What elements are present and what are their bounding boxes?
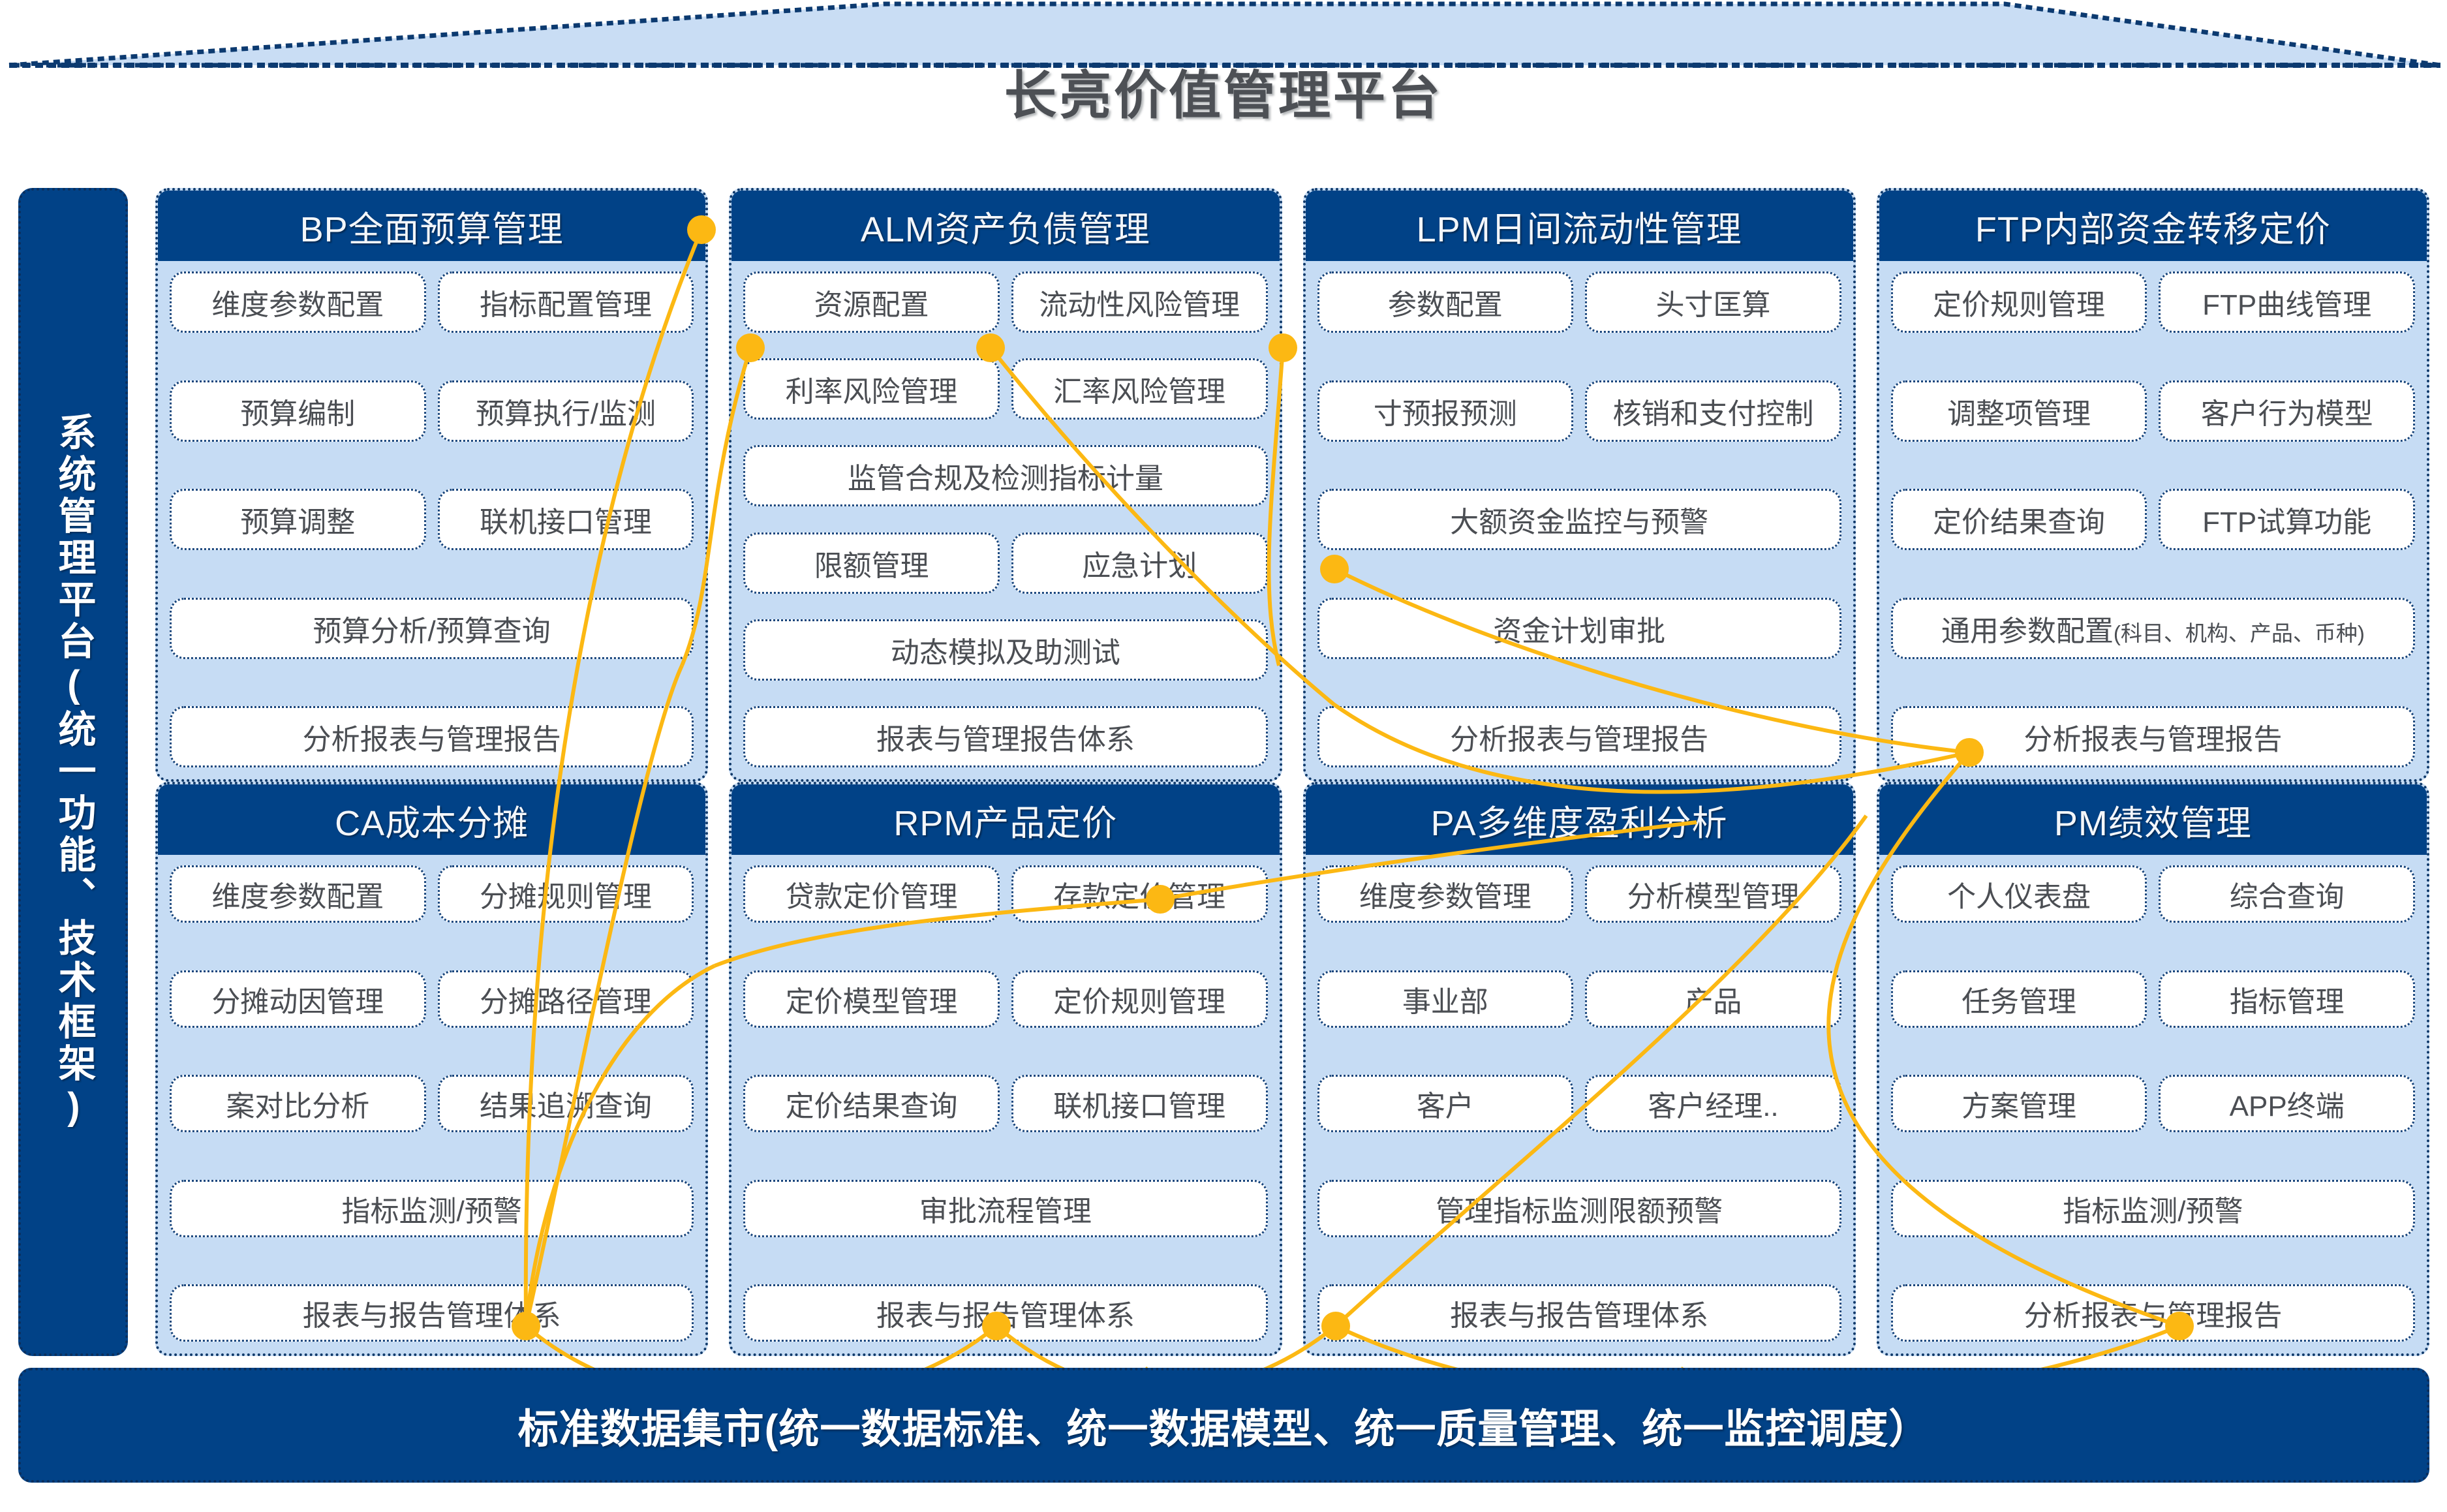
feature-pill-label: 定价结果查询 — [786, 1083, 958, 1124]
feature-pill[interactable]: 管理指标监测限额预警 — [1317, 1180, 1841, 1237]
feature-pill-label: APP终端 — [2230, 1083, 2345, 1124]
card-row: 事业部产品 — [1317, 970, 1841, 1028]
card-row: 定价结果查询联机接口管理 — [743, 1075, 1267, 1132]
feature-pill-label: 客户行为模型 — [2201, 390, 2373, 432]
feature-pill-label: 报表与管理报告体系 — [876, 716, 1135, 758]
card-row: 任务管理指标管理 — [1891, 970, 2415, 1028]
feature-pill-label: 分析模型管理 — [1627, 873, 1799, 915]
card-body-ca: 维度参数配置分摊规则管理分摊动因管理分摊路径管理案对比分析结果追溯查询指标监测/… — [158, 855, 705, 1353]
card-body-rpm: 贷款定价管理存款定价管理定价模型管理定价规则管理定价结果查询联机接口管理审批流程… — [731, 855, 1279, 1353]
card-row: 维度参数配置指标配置管理 — [170, 271, 694, 333]
feature-pill[interactable]: 指标管理 — [2159, 970, 2415, 1028]
card-body-ftp: 定价规则管理FTP曲线管理调整项管理客户行为模型定价结果查询FTP试算功能通用参… — [1879, 261, 2427, 779]
feature-pill-label: 贷款定价管理 — [786, 873, 958, 915]
feature-pill[interactable]: 报表与报告管理体系 — [1317, 1284, 1841, 1342]
card-row: 资源配置流动性风险管理 — [743, 271, 1267, 333]
card-row: 监管合规及检测指标计量 — [743, 445, 1267, 506]
feature-pill[interactable]: 汇率风险管理 — [1011, 358, 1268, 420]
card-body-pa: 维度参数管理分析模型管理事业部产品客户客户经理..管理指标监测限额预警报表与报告… — [1306, 855, 1853, 1353]
feature-pill[interactable]: 报表与报告管理体系 — [743, 1284, 1267, 1342]
feature-pill[interactable]: 资源配置 — [743, 271, 1000, 333]
feature-pill-label: 参数配置 — [1388, 281, 1503, 323]
card-row: 分摊动因管理分摊路径管理 — [170, 970, 694, 1028]
card-row: 定价规则管理FTP曲线管理 — [1891, 271, 2415, 333]
feature-pill-label: 大额资金监控与预警 — [1450, 499, 1708, 540]
card-row: 分析报表与管理报告 — [1891, 1284, 2415, 1342]
feature-pill[interactable]: 核销和支付控制 — [1585, 380, 1841, 442]
card-row: 报表与报告管理体系 — [1317, 1284, 1841, 1342]
card-row: 定价模型管理定价规则管理 — [743, 970, 1267, 1028]
feature-pill-label: 联机接口管理 — [1053, 1083, 1225, 1124]
feature-pill[interactable]: 分析报表与管理报告 — [1891, 706, 2415, 767]
feature-pill[interactable]: 头寸匡算 — [1585, 271, 1841, 333]
card-row: 报表与管理报告体系 — [743, 706, 1267, 767]
feature-pill[interactable]: 动态模拟及助测试 — [743, 619, 1267, 681]
feature-pill[interactable]: 预算分析/预算查询 — [170, 598, 694, 659]
roof-banner: 长亮价值管理平台 — [0, 0, 2447, 163]
feature-pill[interactable]: 指标监测/预警 — [1891, 1180, 2415, 1237]
card-title-rpm: RPM产品定价 — [893, 794, 1117, 846]
feature-pill-label: 定价规则管理 — [1933, 281, 2105, 323]
feature-pill[interactable]: FTP试算功能 — [2159, 489, 2415, 550]
feature-pill[interactable]: 存款定价管理 — [1011, 865, 1268, 923]
feature-pill[interactable]: 分析报表与管理报告 — [1891, 1284, 2415, 1342]
feature-pill-label: 分摊动因管理 — [211, 978, 384, 1020]
feature-pill-label: 流动性风险管理 — [1039, 281, 1240, 323]
feature-pill-label: 定价规则管理 — [1053, 978, 1225, 1020]
feature-pill[interactable]: 定价规则管理 — [1011, 970, 1268, 1028]
feature-pill[interactable]: 分析报表与管理报告 — [1317, 706, 1841, 767]
feature-pill-label: 资源配置 — [814, 281, 929, 323]
card-header-bp: BP全面预算管理 — [158, 191, 705, 261]
feature-pill[interactable]: 结果追溯查询 — [438, 1075, 694, 1132]
card-row: 贷款定价管理存款定价管理 — [743, 865, 1267, 923]
feature-pill-label: 案对比分析 — [226, 1083, 369, 1124]
feature-pill[interactable]: 监管合规及检测指标计量 — [743, 445, 1267, 506]
card-pa[interactable]: PA多维度盈利分析维度参数管理分析模型管理事业部产品客户客户经理..管理指标监测… — [1303, 782, 1856, 1356]
feature-pill-label: 个人仪表盘 — [1947, 873, 2091, 915]
feature-pill[interactable]: 分析报表与管理报告 — [170, 706, 694, 767]
card-row: 指标监测/预警 — [170, 1180, 694, 1237]
feature-pill[interactable]: 指标配置管理 — [438, 271, 694, 333]
card-header-rpm: RPM产品定价 — [731, 784, 1279, 855]
feature-pill-label: 结果追溯查询 — [480, 1083, 652, 1124]
feature-pill[interactable]: 指标监测/预警 — [170, 1180, 694, 1237]
bottom-bar-label: 标准数据集市(统一数据标准、统一数据模型、统一质量管理、统一监控调度） — [518, 1396, 1930, 1455]
card-title-lpm: LPM日间流动性管理 — [1417, 200, 1742, 252]
feature-pill[interactable]: 分析模型管理 — [1585, 865, 1841, 923]
card-row: 预算编制预算执行/监测 — [170, 380, 694, 442]
feature-pill[interactable]: 通用参数配置(科目、机构、产品、币种) — [1891, 598, 2415, 659]
feature-pill[interactable]: 分摊动因管理 — [170, 970, 426, 1028]
feature-pill-label: 产品 — [1684, 978, 1742, 1020]
feature-pill-label: 联机接口管理 — [480, 499, 652, 540]
feature-pill-label: 维度参数配置 — [211, 281, 384, 323]
feature-pill-label: 预算编制 — [240, 390, 355, 432]
card-body-bp: 维度参数配置指标配置管理预算编制预算执行/监测预算调整联机接口管理预算分析/预算… — [158, 261, 705, 779]
feature-pill[interactable]: 预算调整 — [170, 489, 426, 550]
card-alm[interactable]: ALM资产负债管理资源配置流动性风险管理利率风险管理汇率风险管理监管合规及检测指… — [729, 188, 1282, 782]
card-row: 客户客户经理.. — [1317, 1075, 1841, 1132]
feature-pill-label: 事业部 — [1402, 978, 1488, 1020]
feature-pill-label: 报表与报告管理体系 — [876, 1292, 1135, 1334]
feature-pill[interactable]: 客户行为模型 — [2159, 380, 2415, 442]
feature-pill-label: 定价模型管理 — [786, 978, 958, 1020]
feature-pill[interactable]: 定价结果查询 — [1891, 489, 2147, 550]
feature-pill[interactable]: 分摊规则管理 — [438, 865, 694, 923]
feature-pill-label: 指标配置管理 — [480, 281, 652, 323]
feature-pill[interactable]: 方案管理 — [1891, 1075, 2147, 1132]
card-header-pa: PA多维度盈利分析 — [1306, 784, 1853, 855]
card-pm[interactable]: PM绩效管理个人仪表盘综合查询任务管理指标管理方案管理APP终端指标监测/预警分… — [1877, 782, 2429, 1356]
feature-pill-label: 汇率风险管理 — [1053, 368, 1225, 410]
feature-pill-label: 限额管理 — [814, 542, 929, 584]
card-title-ftp: FTP内部资金转移定价 — [1975, 200, 2331, 252]
feature-pill[interactable]: 综合查询 — [2159, 865, 2415, 923]
feature-pill-label: 综合查询 — [2230, 873, 2345, 915]
card-header-ftp: FTP内部资金转移定价 — [1879, 191, 2427, 261]
feature-pill[interactable]: 寸预报预测 — [1317, 380, 1574, 442]
feature-pill[interactable]: 报表与报告管理体系 — [170, 1284, 694, 1342]
feature-pill-label: 客户经理.. — [1648, 1083, 1778, 1124]
card-row: 审批流程管理 — [743, 1180, 1267, 1237]
card-row: 报表与报告管理体系 — [743, 1284, 1267, 1342]
feature-pill-label: 分摊路径管理 — [480, 978, 652, 1020]
feature-pill-label: 报表与报告管理体系 — [303, 1292, 561, 1334]
card-row: 动态模拟及助测试 — [743, 619, 1267, 681]
feature-pill[interactable]: 审批流程管理 — [743, 1180, 1267, 1237]
card-header-alm: ALM资产负债管理 — [731, 191, 1279, 261]
feature-pill[interactable]: 贷款定价管理 — [743, 865, 1000, 923]
feature-pill[interactable]: 参数配置 — [1317, 271, 1574, 333]
card-title-ca: CA成本分摊 — [335, 794, 529, 846]
card-row: 利率风险管理汇率风险管理 — [743, 358, 1267, 420]
card-row: 指标监测/预警 — [1891, 1180, 2415, 1237]
diagram-canvas: 长亮价值管理平台 系统管理平台(统一功能、技术框架) BP全面预算管理维度参数配… — [0, 0, 2447, 1512]
card-header-ca: CA成本分摊 — [158, 784, 705, 855]
feature-pill-label: 指标管理 — [2230, 978, 2345, 1020]
card-body-alm: 资源配置流动性风险管理利率风险管理汇率风险管理监管合规及检测指标计量限额管理应急… — [731, 261, 1279, 779]
feature-pill[interactable]: 分摊路径管理 — [438, 970, 694, 1028]
card-title-alm: ALM资产负债管理 — [861, 200, 1150, 252]
feature-pill[interactable]: 定价规则管理 — [1891, 271, 2147, 333]
card-ftp[interactable]: FTP内部资金转移定价定价规则管理FTP曲线管理调整项管理客户行为模型定价结果查… — [1877, 188, 2429, 782]
feature-pill-label: 寸预报预测 — [1374, 390, 1517, 432]
bottom-bar-standard-data-mart[interactable]: 标准数据集市(统一数据标准、统一数据模型、统一质量管理、统一监控调度） — [18, 1368, 2429, 1483]
card-row: 分析报表与管理报告 — [1317, 706, 1841, 767]
card-row: 调整项管理客户行为模型 — [1891, 380, 2415, 442]
sidebar-label: 系统管理平台(统一功能、技术框架) — [52, 412, 95, 1132]
feature-pill-label: 任务管理 — [1962, 978, 2076, 1020]
feature-pill-label: 报表与报告管理体系 — [1450, 1292, 1708, 1334]
feature-pill[interactable]: 产品 — [1585, 970, 1841, 1028]
feature-pill-label: 分摊规则管理 — [480, 873, 652, 915]
feature-pill[interactable]: 事业部 — [1317, 970, 1574, 1028]
card-lpm[interactable]: LPM日间流动性管理参数配置头寸匡算寸预报预测核销和支付控制大额资金监控与预警资… — [1303, 188, 1856, 782]
card-row: 分析报表与管理报告 — [170, 706, 694, 767]
card-body-pm: 个人仪表盘综合查询任务管理指标管理方案管理APP终端指标监测/预警分析报表与管理… — [1879, 855, 2427, 1353]
module-grid: BP全面预算管理维度参数配置指标配置管理预算编制预算执行/监测预算调整联机接口管… — [155, 188, 2429, 1356]
feature-pill[interactable]: 流动性风险管理 — [1011, 271, 1268, 333]
card-row: 维度参数管理分析模型管理 — [1317, 865, 1841, 923]
card-row: 限额管理应急计划 — [743, 532, 1267, 594]
feature-pill[interactable]: 客户经理.. — [1585, 1075, 1841, 1132]
platform-title: 长亮价值管理平台 — [0, 54, 2447, 129]
card-row: 资金计划审批 — [1317, 598, 1841, 659]
feature-pill-label: 存款定价管理 — [1053, 873, 1225, 915]
feature-pill-label: 方案管理 — [1962, 1083, 2076, 1124]
feature-pill[interactable]: 客户 — [1317, 1075, 1574, 1132]
feature-pill-label: 分析报表与管理报告 — [1450, 716, 1708, 758]
feature-pill[interactable]: 定价模型管理 — [743, 970, 1000, 1028]
feature-pill[interactable]: 联机接口管理 — [1011, 1075, 1268, 1132]
feature-pill[interactable]: 维度参数配置 — [170, 865, 426, 923]
card-row: 预算调整联机接口管理 — [170, 489, 694, 550]
feature-pill-label: 指标监测/预警 — [342, 1188, 522, 1229]
feature-pill-label: 分析报表与管理报告 — [2024, 1292, 2282, 1334]
feature-pill-label: 监管合规及检测指标计量 — [848, 455, 1163, 497]
feature-pill-label: 定价结果查询 — [1933, 499, 2105, 540]
feature-pill-label: 预算调整 — [240, 499, 355, 540]
feature-pill[interactable]: 预算执行/监测 — [438, 380, 694, 442]
card-row: 管理指标监测限额预警 — [1317, 1180, 1841, 1237]
card-row: 通用参数配置(科目、机构、产品、币种) — [1891, 598, 2415, 659]
card-title-pa: PA多维度盈利分析 — [1431, 794, 1728, 846]
card-row: 参数配置头寸匡算 — [1317, 271, 1841, 333]
sidebar-system-management-platform[interactable]: 系统管理平台(统一功能、技术框架) — [18, 188, 128, 1356]
feature-pill-label: 资金计划审批 — [1493, 608, 1665, 649]
feature-pill[interactable]: 定价结果查询 — [743, 1075, 1000, 1132]
card-row: 报表与报告管理体系 — [170, 1284, 694, 1342]
feature-pill[interactable]: 调整项管理 — [1891, 380, 2147, 442]
feature-pill-label: 应急计划 — [1082, 542, 1197, 584]
card-title-bp: BP全面预算管理 — [300, 200, 564, 252]
feature-pill-label: 维度参数管理 — [1359, 873, 1531, 915]
feature-pill-label: 动态模拟及助测试 — [891, 629, 1120, 671]
card-row: 寸预报预测核销和支付控制 — [1317, 380, 1841, 442]
card-row: 大额资金监控与预警 — [1317, 489, 1841, 550]
feature-pill-label: 核销和支付控制 — [1612, 390, 1813, 432]
feature-pill[interactable]: 任务管理 — [1891, 970, 2147, 1028]
feature-pill[interactable]: 资金计划审批 — [1317, 598, 1841, 659]
feature-pill-label: FTP试算功能 — [2202, 499, 2371, 540]
feature-pill[interactable]: 预算编制 — [170, 380, 426, 442]
card-bp[interactable]: BP全面预算管理维度参数配置指标配置管理预算编制预算执行/监测预算调整联机接口管… — [155, 188, 708, 782]
card-header-lpm: LPM日间流动性管理 — [1306, 191, 1853, 261]
feature-pill-label: 客户 — [1417, 1083, 1474, 1124]
card-body-lpm: 参数配置头寸匡算寸预报预测核销和支付控制大额资金监控与预警资金计划审批分析报表与… — [1306, 261, 1853, 779]
card-row: 方案管理APP终端 — [1891, 1075, 2415, 1132]
feature-pill-label: 分析报表与管理报告 — [2024, 716, 2282, 758]
feature-pill[interactable]: 应急计划 — [1011, 532, 1268, 594]
card-title-pm: PM绩效管理 — [2054, 794, 2252, 846]
card-header-pm: PM绩效管理 — [1879, 784, 2427, 855]
feature-pill-label: 审批流程管理 — [919, 1188, 1092, 1229]
feature-pill[interactable]: 联机接口管理 — [438, 489, 694, 550]
feature-pill[interactable]: 维度参数配置 — [170, 271, 426, 333]
feature-pill-label: 预算分析/预算查询 — [313, 608, 551, 649]
feature-pill[interactable]: 利率风险管理 — [743, 358, 1000, 420]
card-rpm[interactable]: RPM产品定价贷款定价管理存款定价管理定价模型管理定价规则管理定价结果查询联机接… — [729, 782, 1282, 1356]
feature-pill-label: 维度参数配置 — [211, 873, 384, 915]
feature-pill-label: 预算执行/监测 — [476, 390, 656, 432]
feature-pill[interactable]: 个人仪表盘 — [1891, 865, 2147, 923]
card-row: 案对比分析结果追溯查询 — [170, 1075, 694, 1132]
card-row: 定价结果查询FTP试算功能 — [1891, 489, 2415, 550]
card-row: 预算分析/预算查询 — [170, 598, 694, 659]
feature-pill[interactable]: 案对比分析 — [170, 1075, 426, 1132]
card-row: 分析报表与管理报告 — [1891, 706, 2415, 767]
feature-pill-label: 调整项管理 — [1947, 390, 2091, 432]
feature-pill[interactable]: 大额资金监控与预警 — [1317, 489, 1841, 550]
feature-pill[interactable]: APP终端 — [2159, 1075, 2415, 1132]
feature-pill-label: 通用参数配置(科目、机构、产品、币种) — [1941, 608, 2365, 649]
feature-pill-label: FTP曲线管理 — [2202, 281, 2371, 323]
feature-pill-label: 利率风险管理 — [786, 368, 958, 410]
feature-pill-label: 头寸匡算 — [1655, 281, 1770, 323]
card-row: 维度参数配置分摊规则管理 — [170, 865, 694, 923]
card-row: 个人仪表盘综合查询 — [1891, 865, 2415, 923]
feature-pill-label: 指标监测/预警 — [2063, 1188, 2243, 1229]
feature-pill-label: 分析报表与管理报告 — [303, 716, 561, 758]
feature-pill[interactable]: 维度参数管理 — [1317, 865, 1574, 923]
feature-pill[interactable]: 限额管理 — [743, 532, 1000, 594]
feature-pill[interactable]: 报表与管理报告体系 — [743, 706, 1267, 767]
feature-pill[interactable]: FTP曲线管理 — [2159, 271, 2415, 333]
card-ca[interactable]: CA成本分摊维度参数配置分摊规则管理分摊动因管理分摊路径管理案对比分析结果追溯查… — [155, 782, 708, 1356]
feature-pill-label: 管理指标监测限额预警 — [1436, 1188, 1723, 1229]
